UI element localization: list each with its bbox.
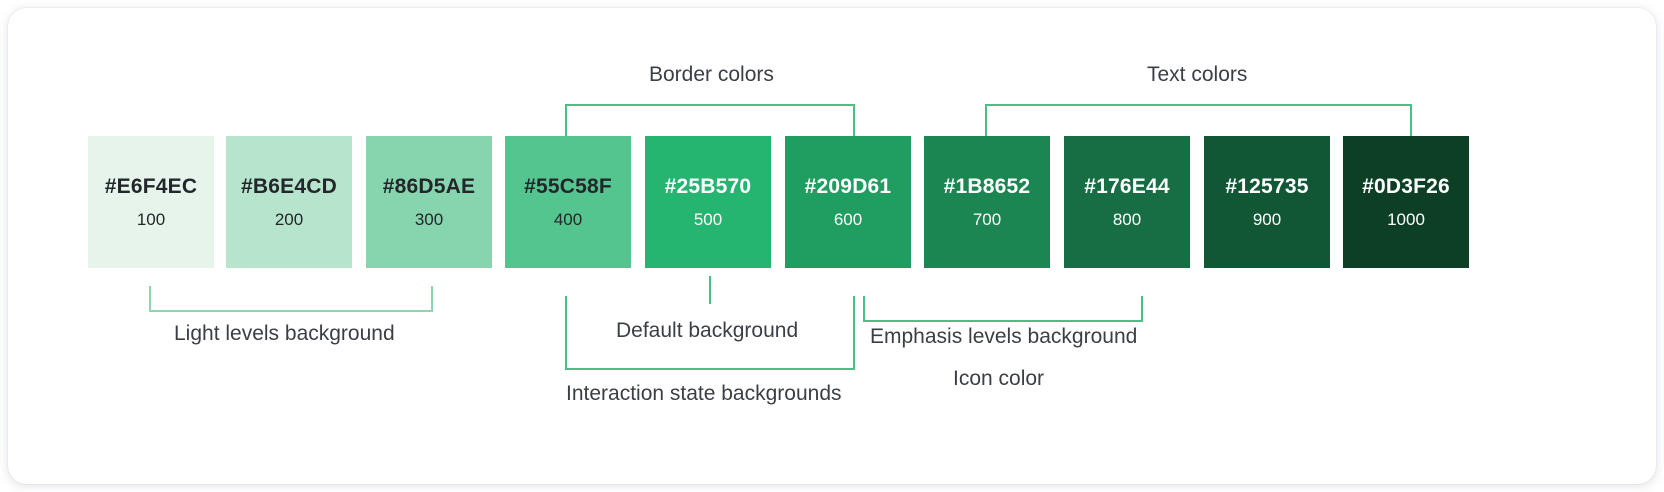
palette-card: Border colors Text colors #E6F4EC 100 #B…: [8, 8, 1656, 484]
swatch-hex: #E6F4EC: [105, 176, 197, 197]
swatch-1000[interactable]: #0D3F26 1000: [1343, 136, 1469, 268]
caption-text-colors: Text colors: [1147, 64, 1247, 85]
swatch-700[interactable]: #1B8652 700: [924, 136, 1050, 268]
caption-border-colors: Border colors: [649, 64, 774, 85]
caption-interaction-state-backgrounds: Interaction state backgrounds: [566, 383, 842, 404]
swatch-100[interactable]: #E6F4EC 100: [88, 136, 214, 268]
caption-emphasis-levels-background: Emphasis levels background: [870, 326, 1137, 347]
caption-light-levels-background: Light levels background: [174, 323, 395, 344]
swatch-step: 800: [1113, 211, 1141, 228]
bracket-interaction-right-tick: [853, 296, 855, 370]
bracket-emphasis-right-tick: [1141, 296, 1143, 322]
bracket-interaction-bottom: [565, 368, 855, 370]
swatch-600[interactable]: #209D61 600: [785, 136, 911, 268]
swatch-hex: #55C58F: [524, 176, 612, 197]
tick-default-background: [709, 276, 711, 304]
bracket-light-levels-bottom: [149, 310, 433, 312]
bracket-interaction-left-tick: [565, 296, 567, 370]
swatch-500[interactable]: #25B570 500: [645, 136, 771, 268]
bracket-text-colors-top: [985, 104, 1412, 106]
bracket-emphasis-left-tick: [863, 296, 865, 322]
swatch-400[interactable]: #55C58F 400: [505, 136, 631, 268]
swatch-900[interactable]: #125735 900: [1204, 136, 1330, 268]
bracket-emphasis-bottom: [863, 320, 1143, 322]
swatch-step: 1000: [1387, 211, 1425, 228]
swatch-step: 300: [415, 211, 443, 228]
swatch-hex: #1B8652: [944, 176, 1031, 197]
swatch-hex: #209D61: [805, 176, 892, 197]
swatch-step: 400: [554, 211, 582, 228]
bracket-light-levels-left-tick: [149, 286, 151, 312]
bracket-border-colors-top: [565, 104, 855, 106]
bracket-text-colors-right-tick: [1410, 104, 1412, 136]
swatch-800[interactable]: #176E44 800: [1064, 136, 1190, 268]
swatch-step: 900: [1253, 211, 1281, 228]
bracket-light-levels-right-tick: [431, 286, 433, 312]
swatch-hex: #125735: [1225, 176, 1308, 197]
swatch-hex: #25B570: [665, 176, 752, 197]
swatch-hex: #0D3F26: [1362, 176, 1450, 197]
swatch-300[interactable]: #86D5AE 300: [366, 136, 492, 268]
swatch-hex: #B6E4CD: [241, 176, 337, 197]
palette-stage: Border colors Text colors #E6F4EC 100 #B…: [8, 8, 1656, 484]
swatch-hex: #86D5AE: [383, 176, 475, 197]
swatch-200[interactable]: #B6E4CD 200: [226, 136, 352, 268]
caption-default-background: Default background: [616, 320, 798, 341]
swatch-step: 100: [137, 211, 165, 228]
bracket-border-colors-right-tick: [853, 104, 855, 136]
swatch-step: 500: [694, 211, 722, 228]
bracket-text-colors-left-tick: [985, 104, 987, 136]
swatch-step: 600: [834, 211, 862, 228]
swatch-step: 700: [973, 211, 1001, 228]
swatch-hex: #176E44: [1084, 176, 1169, 197]
swatch-step: 200: [275, 211, 303, 228]
caption-icon-color: Icon color: [953, 368, 1044, 389]
bracket-border-colors-left-tick: [565, 104, 567, 136]
